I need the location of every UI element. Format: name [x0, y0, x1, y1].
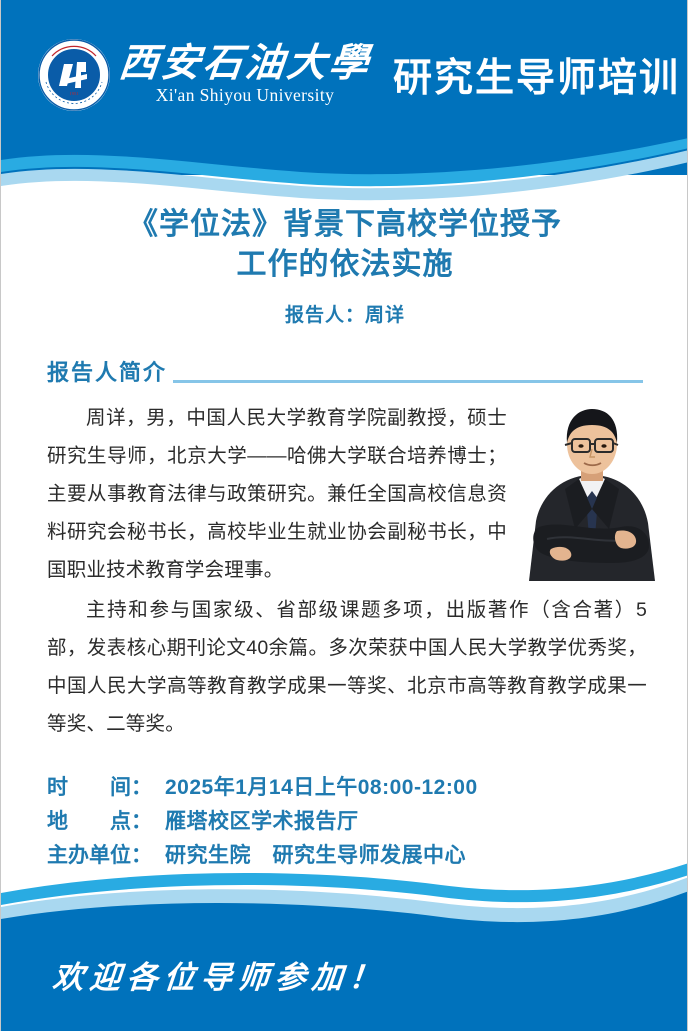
svg-text:1951: 1951	[70, 91, 79, 96]
detail-key-organizer: 主办单位：	[47, 839, 165, 873]
bio-paragraph-1: 周详，男，中国人民大学教育学院副教授，硕士研究生导师，北京大学——哈佛大学联合培…	[47, 399, 507, 589]
bio-heading-label: 报告人简介	[47, 355, 167, 387]
bio-paragraph-2: 主持和参与国家级、省部级课题多项，出版著作（含合著）5部，发表核心期刊论文40余…	[47, 591, 647, 743]
detail-value-time: 2025年1月14日上午08:00-12:00	[165, 771, 478, 805]
talk-title-line-1: 《学位法》背景下高校学位授予	[46, 205, 644, 245]
bio-section-heading: 报告人简介	[47, 355, 643, 387]
footer-welcome-text: 欢迎各位导师参加！	[51, 952, 388, 997]
poster-body: 《学位法》背景下高校学位授予 工作的依法实施 报告人：周详 报告人简介	[1, 205, 688, 873]
detail-key-location: 地 点：	[47, 805, 165, 839]
detail-value-organizer: 研究生院 研究生导师发展中心	[165, 839, 466, 873]
footer-wave-decoration	[1, 863, 688, 943]
bio-heading-rule	[173, 380, 643, 383]
talk-title-line-2: 工作的依法实施	[46, 245, 644, 285]
speaker-line: 报告人：周详	[1, 300, 688, 327]
bio-body: 周详，男，中国人民大学教育学院副教授，硕士研究生导师，北京大学——哈佛大学联合培…	[1, 399, 688, 743]
detail-row-location: 地 点： 雁塔校区学术报告厅	[47, 805, 688, 839]
university-seal-icon: 1951	[37, 38, 111, 112]
speaker-portrait	[517, 403, 667, 581]
poster-header-title: 研究生导师培训	[393, 47, 680, 103]
detail-row-time: 时 间： 2025年1月14日上午08:00-12:00	[47, 771, 688, 805]
university-name-en: Xi'an Shiyou University	[156, 85, 335, 106]
detail-row-organizer: 主办单位： 研究生院 研究生导师发展中心	[47, 839, 688, 873]
university-wordmark: 西安石油大學 Xi'an Shiyou University	[119, 44, 371, 107]
header-content: 1951 西安石油大學 Xi'an Shiyou University 研究生导…	[1, 0, 688, 150]
talk-title: 《学位法》背景下高校学位授予 工作的依法实施	[1, 205, 688, 284]
poster-canvas: 1951 西安石油大學 Xi'an Shiyou University 研究生导…	[0, 0, 688, 1031]
detail-value-location: 雁塔校区学术报告厅	[165, 805, 359, 839]
event-details: 时 间： 2025年1月14日上午08:00-12:00 地 点： 雁塔校区学术…	[47, 771, 688, 873]
detail-key-time: 时 间：	[47, 771, 165, 805]
university-name-cn: 西安石油大學	[117, 44, 373, 85]
